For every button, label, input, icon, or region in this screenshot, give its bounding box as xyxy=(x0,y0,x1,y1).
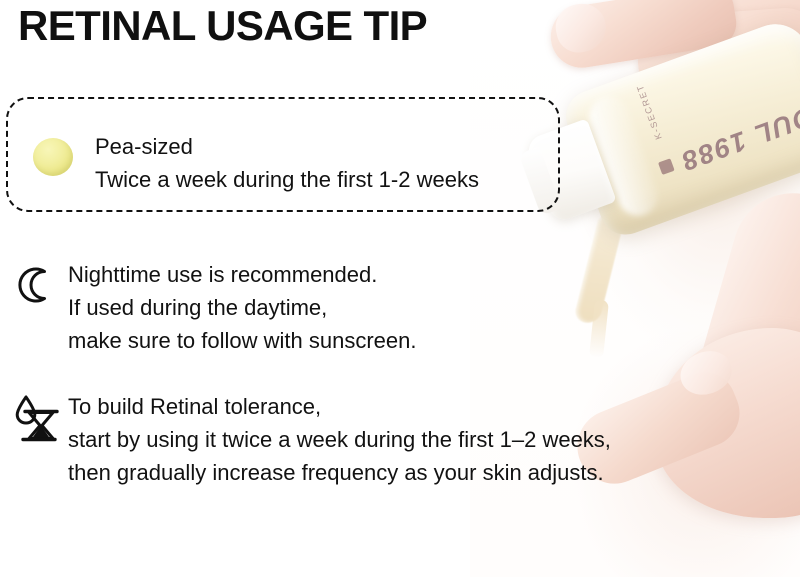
tip-row-night: Nighttime use is recommended. If used du… xyxy=(14,258,417,357)
highlight-box-line: Twice a week during the first 1-2 weeks xyxy=(95,163,479,196)
crescent-moon-icon xyxy=(14,264,58,311)
page-title: RETINAL USAGE TIP xyxy=(18,2,427,50)
tip-card-canvas: K-SECRET SEOUL 1988 RETINAL USAGE TIP Pe… xyxy=(0,0,800,577)
tip-line: If used during the daytime, xyxy=(68,291,417,324)
tip-text-night: Nighttime use is recommended. If used du… xyxy=(68,258,417,357)
tip-text-tolerance: To build Retinal tolerance, start by usi… xyxy=(68,390,611,489)
content-layer: RETINAL USAGE TIP Pea-sized Twice a week… xyxy=(0,0,800,577)
tip-row-tolerance: To build Retinal tolerance, start by usi… xyxy=(14,390,611,489)
highlight-box-text: Pea-sized Twice a week during the first … xyxy=(95,130,479,196)
pea-sized-dot-icon xyxy=(33,138,73,176)
tip-line: Nighttime use is recommended. xyxy=(68,258,417,291)
tip-line: then gradually increase frequency as you… xyxy=(68,456,611,489)
highlight-box-line: Pea-sized xyxy=(95,130,479,163)
hourglass-droplet-icon xyxy=(14,394,58,449)
tip-line: make sure to follow with sunscreen. xyxy=(68,324,417,357)
tip-line: start by using it twice a week during th… xyxy=(68,423,611,456)
tip-line: To build Retinal tolerance, xyxy=(68,390,611,423)
